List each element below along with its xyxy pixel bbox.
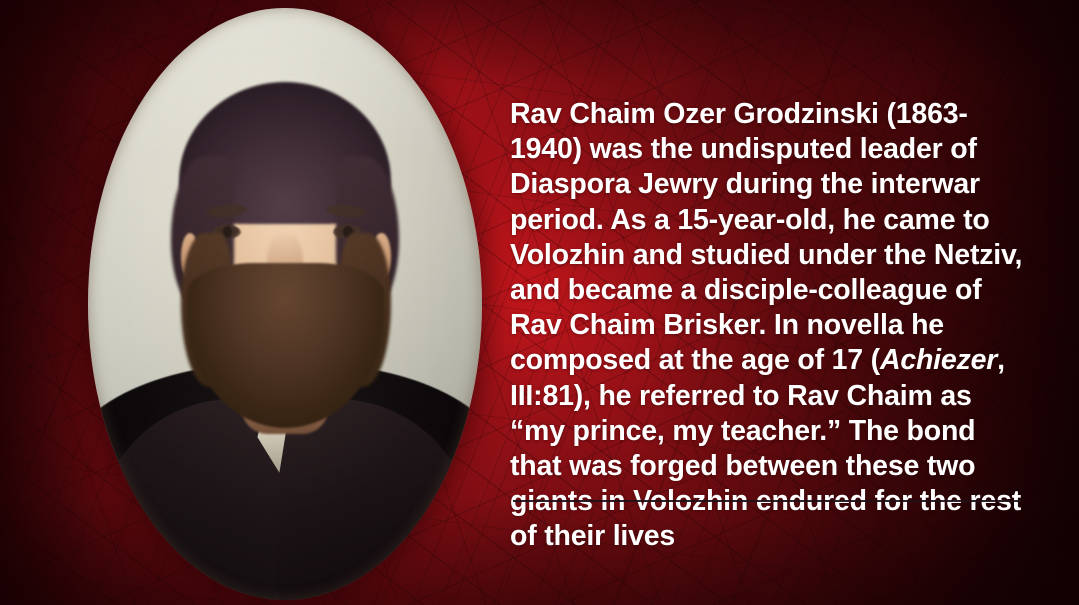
biography-caption-text: Rav Chaim Ozer Grodzinski (1863-1940) wa… xyxy=(510,97,1030,555)
horizontal-divider-rule xyxy=(513,500,1021,502)
infographic-card: Rav Chaim Ozer Grodzinski (1863-1940) wa… xyxy=(0,0,1079,605)
portrait-oval-photo xyxy=(88,8,482,600)
caption-italic-run: Achiezer xyxy=(880,344,997,376)
caption-text-run: Rav Chaim Ozer Grodzinski (1863-1940) wa… xyxy=(510,98,1022,376)
